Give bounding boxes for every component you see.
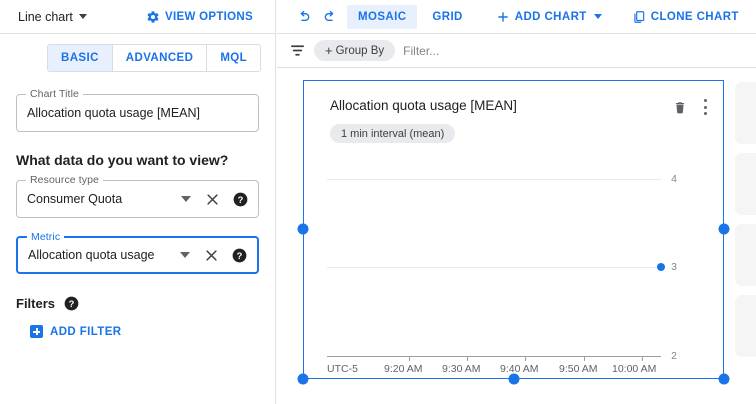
timezone-label: UTC-5 — [327, 363, 358, 375]
resize-handle-bottom-left[interactable] — [298, 374, 309, 385]
resize-handle-left[interactable] — [298, 224, 309, 235]
resize-handle-bottom-right[interactable] — [719, 374, 730, 385]
add-filter-label: ADD FILTER — [50, 326, 122, 338]
preview-toolbar: MOSAIC GRID ADD CHART CLONE CHART — [277, 0, 756, 34]
resize-handle-bottom-center[interactable] — [509, 374, 520, 385]
gear-icon — [146, 10, 160, 24]
help-icon[interactable]: ? — [233, 192, 248, 207]
data-point[interactable] — [657, 263, 665, 271]
plus-icon: + — [325, 44, 333, 57]
filters-section-header: Filters ? — [16, 296, 259, 311]
chart-card-allocation-quota-usage[interactable]: Allocation quota usage [MEAN] 1 min inte… — [303, 80, 724, 379]
x-tick-5 — [642, 356, 643, 361]
panel-header: Line chart VIEW OPTIONS — [0, 0, 275, 34]
undo-button[interactable] — [291, 4, 317, 30]
resource-type-value: Consumer Quota — [27, 192, 181, 206]
chevron-down-icon[interactable] — [180, 252, 190, 258]
tab-mql[interactable]: MQL — [207, 45, 260, 71]
metric-field-wrap: Metric Allocation quota usage ? — [16, 236, 259, 274]
plus-icon — [496, 10, 510, 24]
tab-basic[interactable]: BASIC — [48, 45, 113, 71]
y-tick-label-2: 2 — [671, 350, 677, 362]
x-tick-1 — [409, 356, 410, 361]
chevron-down-icon — [594, 14, 602, 19]
help-icon[interactable]: ? — [64, 296, 79, 311]
tab-advanced[interactable]: ADVANCED — [113, 45, 208, 71]
x-tick-label-3: 9:40 AM — [500, 363, 539, 375]
view-mode-grid[interactable]: GRID — [421, 5, 473, 29]
copy-icon — [632, 10, 646, 24]
chart-title-input[interactable]: Chart Title Allocation quota usage [MEAN… — [16, 94, 259, 132]
view-options-label: VIEW OPTIONS — [165, 11, 253, 23]
y-tick-label-3: 3 — [671, 261, 677, 273]
chart-preview-area: MOSAIC GRID ADD CHART CLONE CHART — [277, 0, 756, 404]
resource-type-label: Resource type — [26, 174, 103, 186]
x-tick-label-2: 9:30 AM — [442, 363, 481, 375]
adjacent-chart-card-1[interactable] — [735, 82, 756, 144]
y-tick-label-4: 4 — [671, 173, 677, 185]
x-tick-label-1: 9:20 AM — [384, 363, 423, 375]
clear-icon[interactable] — [204, 248, 219, 263]
x-axis-line — [327, 356, 661, 357]
chevron-down-icon — [79, 14, 87, 19]
filter-input[interactable]: Filter... — [403, 44, 439, 58]
view-options-button[interactable]: VIEW OPTIONS — [146, 10, 253, 24]
group-filter-bar: + Group By Filter... — [277, 34, 756, 68]
metric-label: Metric — [27, 231, 64, 243]
undo-icon — [296, 9, 312, 25]
svg-text:?: ? — [238, 194, 244, 204]
chart-title-label: Chart Title — [26, 88, 83, 100]
gridline-3 — [327, 267, 661, 268]
resource-type-select[interactable]: Resource type Consumer Quota ? — [16, 180, 259, 218]
plus-icon — [30, 325, 43, 338]
chart-title-value: Allocation quota usage [MEAN] — [27, 106, 248, 120]
chevron-down-icon[interactable] — [181, 196, 191, 202]
kebab-menu-icon[interactable] — [703, 99, 707, 115]
chart-card-title: Allocation quota usage [MEAN] — [330, 98, 673, 113]
adjacent-chart-card-3[interactable] — [735, 224, 756, 286]
data-section-heading: What data do you want to view? — [16, 152, 259, 168]
x-tick-label-5: 10:00 AM — [612, 363, 656, 375]
resize-handle-right[interactable] — [719, 224, 730, 235]
help-icon[interactable]: ? — [232, 248, 247, 263]
x-tick-3 — [525, 356, 526, 361]
chart-plot-area: 4 3 2 UTC-5 9:20 AM — [304, 165, 725, 380]
chart-card-actions — [673, 98, 707, 115]
clone-chart-label: CLONE CHART — [651, 11, 739, 23]
config-tabs-row: BASIC ADVANCED MQL — [0, 34, 275, 72]
monitoring-chart-editor: Line chart VIEW OPTIONS BASIC ADVANCED M — [0, 0, 756, 404]
view-mode-mosaic[interactable]: MOSAIC — [347, 5, 417, 29]
chart-card-header: Allocation quota usage [MEAN] — [304, 81, 723, 115]
adjacent-chart-card-2[interactable] — [735, 153, 756, 215]
grid-label: GRID — [432, 11, 462, 23]
chart-type-label: Line chart — [18, 10, 73, 24]
redo-icon — [322, 9, 338, 25]
metric-select[interactable]: Metric Allocation quota usage ? — [16, 236, 259, 274]
trash-icon[interactable] — [673, 100, 687, 115]
resource-type-field-wrap: Resource type Consumer Quota ? — [16, 180, 259, 218]
chart-config-panel: Line chart VIEW OPTIONS BASIC ADVANCED M — [0, 0, 276, 404]
add-chart-label: ADD CHART — [515, 11, 587, 23]
interval-chip: 1 min interval (mean) — [330, 124, 455, 143]
mosaic-label: MOSAIC — [358, 11, 406, 23]
filters-label: Filters — [16, 296, 55, 311]
group-by-button[interactable]: + Group By — [314, 40, 395, 61]
add-filter-button[interactable]: ADD FILTER — [30, 325, 259, 338]
config-tabs: BASIC ADVANCED MQL — [47, 44, 261, 72]
gridline-4 — [327, 179, 661, 180]
group-by-label: Group By — [336, 45, 385, 57]
x-tick-label-4: 9:50 AM — [559, 363, 598, 375]
chart-type-dropdown[interactable]: Line chart — [18, 10, 87, 24]
x-tick-2 — [467, 356, 468, 361]
svg-text:?: ? — [237, 250, 243, 260]
tab-mql-label: MQL — [220, 52, 247, 64]
tab-advanced-label: ADVANCED — [126, 52, 194, 64]
clone-chart-button[interactable]: CLONE CHART — [624, 5, 747, 29]
clear-icon[interactable] — [205, 192, 220, 207]
add-chart-button[interactable]: ADD CHART — [488, 5, 610, 29]
chart-title-field-wrap: Chart Title Allocation quota usage [MEAN… — [16, 94, 259, 132]
redo-button[interactable] — [317, 4, 343, 30]
x-tick-4 — [584, 356, 585, 361]
tab-basic-label: BASIC — [61, 52, 99, 64]
filter-list-icon[interactable] — [289, 42, 306, 59]
metric-value: Allocation quota usage — [28, 248, 180, 262]
svg-text:?: ? — [69, 299, 75, 309]
mosaic-canvas: Allocation quota usage [MEAN] 1 min inte… — [277, 68, 756, 404]
adjacent-chart-card-4[interactable] — [735, 295, 756, 357]
